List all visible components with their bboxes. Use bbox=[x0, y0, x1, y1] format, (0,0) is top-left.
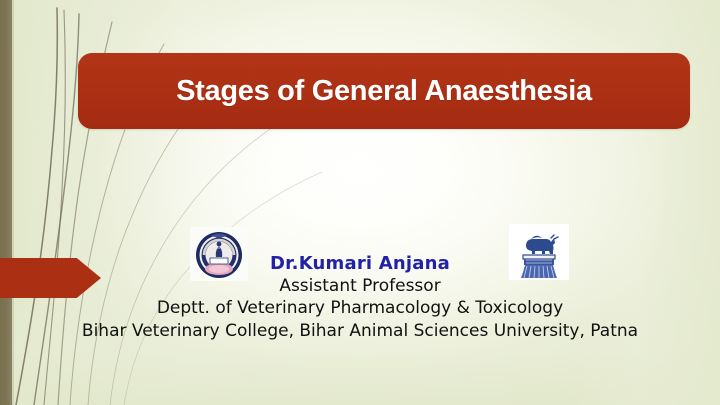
presenter-designation: Assistant Professor bbox=[0, 275, 720, 297]
title-banner: Stages of General Anaesthesia bbox=[78, 53, 690, 129]
olive-side-stripe bbox=[0, 0, 12, 405]
credits-block: Dr.Kumari Anjana Assistant Professor Dep… bbox=[0, 252, 720, 342]
presenter-institution: Bihar Veterinary College, Bihar Animal S… bbox=[0, 320, 720, 342]
page-title: Stages of General Anaesthesia bbox=[176, 77, 592, 106]
presenter-department: Deptt. of Veterinary Pharmacology & Toxi… bbox=[0, 297, 720, 319]
olive-side-stripe-edge bbox=[12, 0, 14, 405]
svg-text:UNIVERSITY: UNIVERSITY bbox=[210, 246, 229, 250]
slide-canvas: Stages of General Anaesthesia UNIVERSITY… bbox=[0, 0, 720, 405]
presenter-name: Dr.Kumari Anjana bbox=[0, 252, 720, 275]
